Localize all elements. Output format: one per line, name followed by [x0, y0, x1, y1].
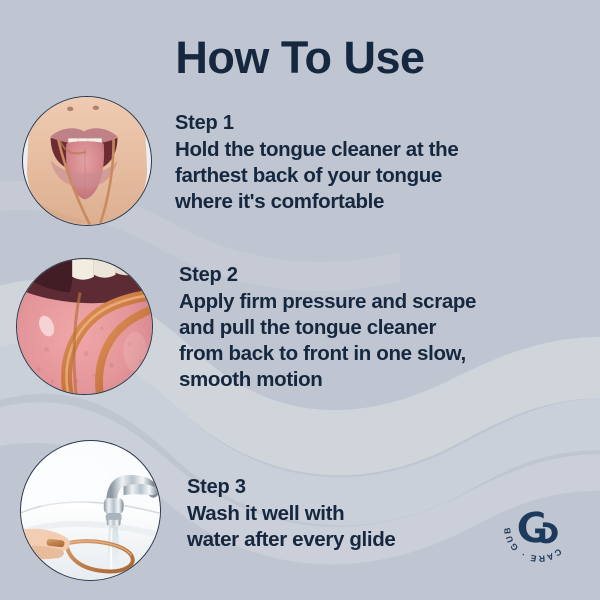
photo-rinsing-under-tap	[20, 440, 161, 581]
step-1-heading: Step 1	[175, 112, 458, 136]
brand-logo-gubb: CARE · GUBB · QUINTESSENTIAL ·	[500, 488, 578, 566]
brand-monogram-g	[519, 511, 558, 543]
page-title: How To Use	[0, 34, 600, 81]
step-1-body: Hold the tongue cleaner at the farthest …	[175, 137, 458, 215]
step-row-2: Step 2 Apply firm pressure and scrape an…	[16, 258, 476, 395]
step-2-heading: Step 2	[179, 264, 476, 288]
step-3-body: Wash it well with water after every glid…	[187, 501, 395, 553]
how-to-use-infographic: How To Use	[0, 0, 600, 600]
photo-tongue-out-with-cleaner	[22, 96, 152, 226]
step-2-body: Apply firm pressure and scrape and pull …	[179, 289, 476, 393]
step-row-3: Step 3 Wash it well with water after eve…	[20, 440, 395, 581]
photo-closeup-scraping-tongue	[16, 258, 153, 395]
step-2-text: Step 2 Apply firm pressure and scrape an…	[153, 258, 476, 393]
step-row-1: Step 1 Hold the tongue cleaner at the fa…	[22, 96, 458, 226]
step-3-heading: Step 3	[187, 476, 395, 500]
step-3-text: Step 3 Wash it well with water after eve…	[161, 440, 395, 553]
step-1-text: Step 1 Hold the tongue cleaner at the fa…	[152, 96, 458, 215]
